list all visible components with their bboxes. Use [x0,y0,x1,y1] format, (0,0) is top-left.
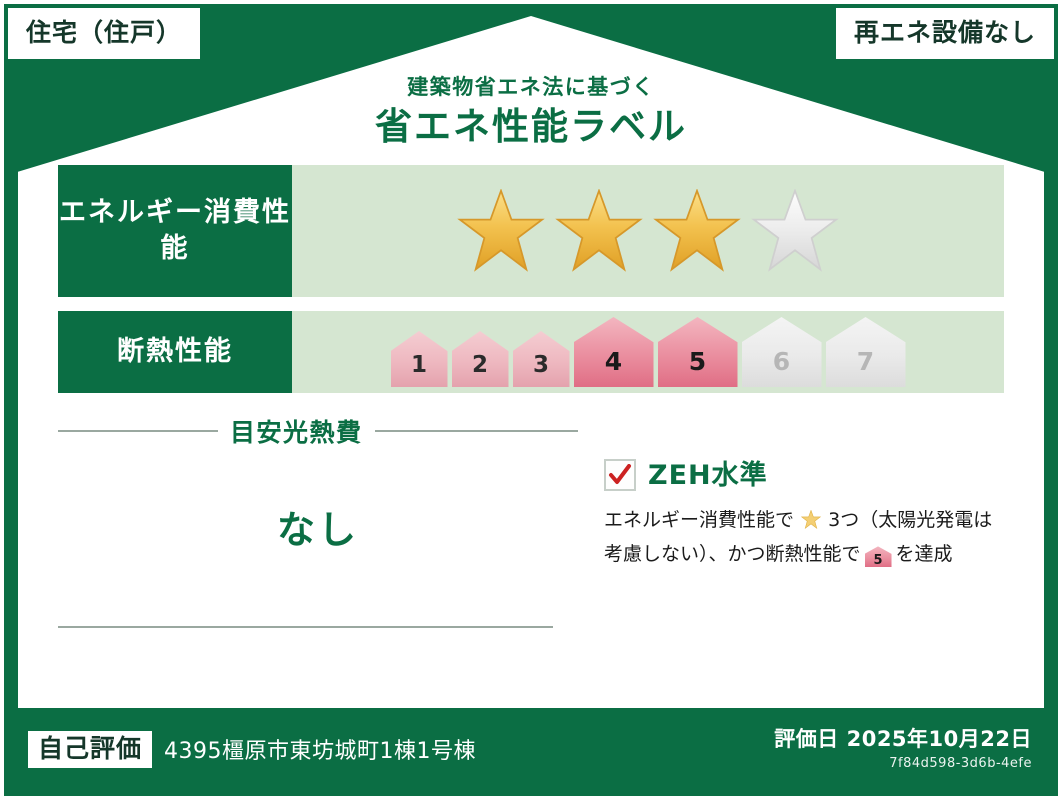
property-name: 4395橿原市東坊城町1棟1号棟 [164,733,476,765]
grade-badge-5: 5 [658,317,738,387]
utility-cost-header: 目安光熱費 [58,407,578,449]
label-content: エネルギー消費性能 [58,165,1004,628]
grade-scale: 1 2 3 4 5 [391,317,906,387]
evaluation-id: 7f84d598-3d6b-4efe [774,756,1032,771]
star-icon-inline [795,512,827,534]
utility-cost-bottom-divider [58,626,553,628]
star-icon [457,189,545,273]
grade-badge-7: 7 [826,317,906,387]
star-icon [653,189,741,273]
grade-badge-1: 1 [391,331,448,387]
grade-badge-label: 2 [472,354,488,387]
grade-badge-label: 6 [773,349,790,387]
renewable-equipment-tag: 再エネ設備なし [836,8,1054,59]
energy-performance-label: 住宅（住戸） 再エネ設備なし 建築物省エネ法に基づく 省エネ性能ラベル エネルギ… [0,0,1062,800]
title-subtitle: 建築物省エネ法に基づく [0,76,1062,99]
zeh-description: エネルギー消費性能で 3つ（太陽光発電は考慮しない）、かつ断熱性能で 5 を達成 [604,505,1004,571]
grade-badge-label: 3 [533,354,549,387]
insulation-performance-rating: 1 2 3 4 5 [292,311,1004,393]
energy-label-line: エネルギー消費性能 [58,195,292,268]
divider-right [375,430,578,432]
grade-badge-6: 6 [742,317,822,387]
insulation-performance-label-text: 断熱性能 [58,311,292,393]
zeh-header: ZEH水準 [604,459,1004,491]
energy-performance-label-text: エネルギー消費性能 [58,165,292,297]
footer-left: 自己評価 4395橿原市東坊城町1棟1号棟 [28,731,476,768]
grade-badge-label: 5 [689,349,706,387]
check-icon [608,464,632,486]
utility-cost-section: 目安光熱費 なし [58,407,578,628]
page-title: 省エネ性能ラベル [0,107,1062,148]
energy-performance-rating [292,165,1004,297]
grade-badge-label: 1 [411,354,427,387]
zeh-checkbox[interactable] [604,459,636,491]
insulation-label-line: 断熱性能 [117,334,233,370]
star-rating [457,189,839,273]
lower-section: 目安光熱費 なし ZEH水準 エネルギー消費性能で [58,407,1004,628]
label-title-block: 建築物省エネ法に基づく 省エネ性能ラベル [0,76,1062,148]
divider-left [58,430,218,432]
grade-badge-3: 3 [513,331,570,387]
building-type-tag: 住宅（住戸） [8,8,200,59]
footer-right: 評価日 2025年10月22日 7f84d598-3d6b-4efe [774,727,1032,771]
evaluation-date: 評価日 2025年10月22日 [774,727,1032,752]
grade-badge-4: 4 [574,317,654,387]
self-evaluation-badge: 自己評価 [28,731,152,768]
zeh-desc-part1: エネルギー消費性能で [604,509,794,531]
star-icon-empty [751,189,839,273]
zeh-desc-part3: を達成 [896,543,953,565]
energy-performance-row: エネルギー消費性能 [58,165,1004,297]
evaluation-date-value: 2025年10月22日 [847,727,1032,751]
zeh-title: ZEH水準 [648,462,768,489]
inline-grade-badge: 5 [865,546,892,567]
zeh-section: ZEH水準 エネルギー消費性能で 3つ（太陽光発電は考慮しない）、かつ断熱性能で… [578,407,1004,628]
grade-badge-label: 4 [605,349,622,387]
label-footer: 自己評価 4395橿原市東坊城町1棟1号棟 評価日 2025年10月22日 7f… [18,716,1044,782]
insulation-performance-row: 断熱性能 1 2 3 [58,311,1004,393]
utility-cost-title: 目安光熱費 [230,413,363,449]
inline-grade-label: 5 [865,546,892,571]
utility-cost-value: なし [58,499,578,554]
star-icon [555,189,643,273]
evaluation-date-label: 評価日 [774,727,839,751]
grade-badge-label: 7 [857,349,874,387]
grade-badge-2: 2 [452,331,509,387]
